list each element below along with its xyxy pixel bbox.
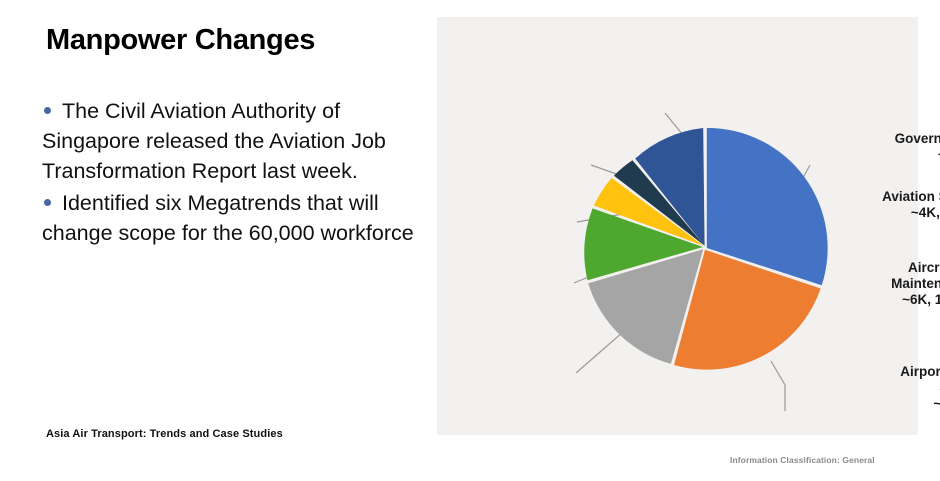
footer-note: Asia Air Transport: Trends and Case Stud… [46,428,283,440]
bullet-list: The Civil Aviation Authority of Singapor… [42,96,414,250]
pie-chart-panel: Others: Foreign Pax & Freighter Airlines… [437,17,918,435]
leader-line-airport [576,332,623,373]
list-item-text: Identified six Megatrends that will chan… [42,191,414,245]
pie-label-others: Others: Foreign Pax & Freighter Airlines… [931,59,940,107]
bullet-dot-icon [44,107,51,114]
classification-note: Information Classification: General [730,455,875,465]
pie-chart-graphic [437,17,918,435]
list-item-text: The Civil Aviation Authority of Singapor… [42,99,386,183]
pie-slices [584,128,827,370]
bullet-dot-icon [44,199,51,206]
page-title: Manpower Changes [46,24,315,57]
list-item: Identified six Megatrends that will chan… [42,188,414,248]
pie-label-airport-operations: Airport Operations & Services ~10K, 16% [882,364,940,412]
pie-label-aviation-security: Aviation Security ~4K, 7% [869,189,940,221]
list-item: The Civil Aviation Authority of Singapor… [42,96,414,186]
leader-line-ground [771,361,785,411]
pie-label-aircraft-maintenance: Aircraft Maintenance ~6K, 10% [877,260,940,308]
pie-label-government-services: Government Services ~3K, 5% [873,131,940,163]
